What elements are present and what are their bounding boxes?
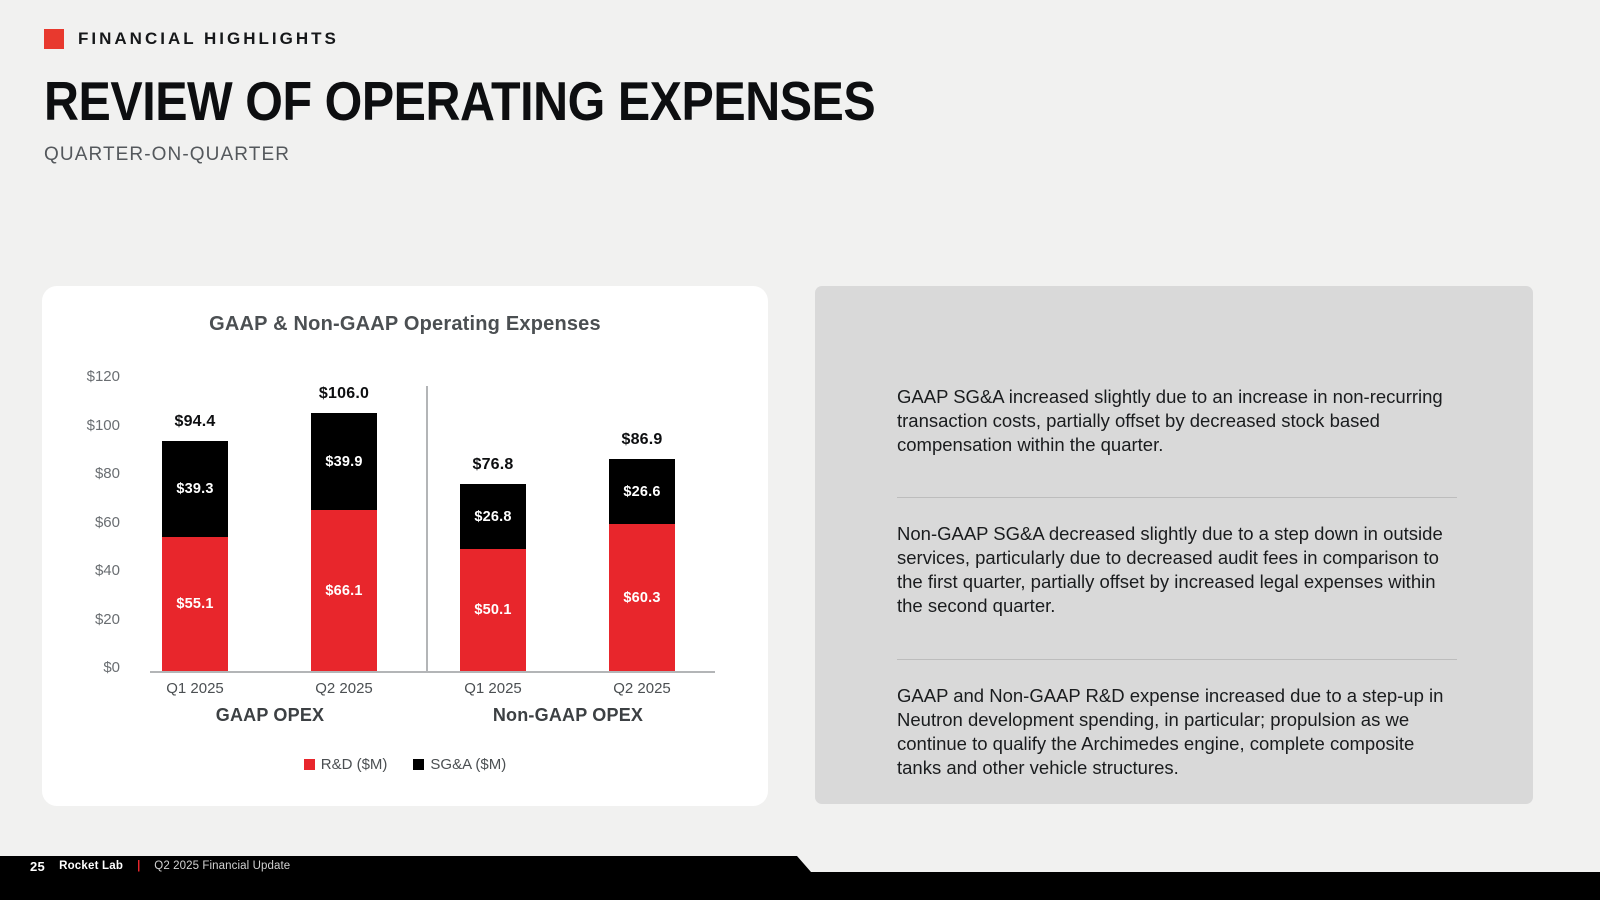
bar-segment-sga[interactable]: $39.3	[162, 441, 228, 537]
group-label-gaap-opex: GAAP OPEX	[120, 705, 420, 726]
legend-label-rd: R&D ($M)	[321, 756, 388, 773]
commentary-item: GAAP and Non-GAAP R&D expense increased …	[897, 659, 1457, 780]
x-axis-tick-gaap-q2: Q2 2025	[274, 680, 414, 697]
legend-swatch-sga-icon	[413, 759, 424, 770]
bar-segment-rd[interactable]: $55.1	[162, 537, 228, 671]
commentary-item: GAAP SG&A increased slightly due to an i…	[897, 385, 1457, 479]
chart-legend: R&D ($M) SG&A ($M)	[42, 756, 768, 773]
y-axis-tick: $0	[64, 659, 120, 676]
bar-segment-label: $39.9	[325, 454, 362, 470]
bar-gaap-q1-2025[interactable]: $39.3 $55.1	[162, 441, 228, 671]
legend-item-sga[interactable]: SG&A ($M)	[413, 756, 506, 773]
page-subtitle: QUARTER-ON-QUARTER	[44, 144, 944, 166]
eyebrow-label: FINANCIAL HIGHLIGHTS	[78, 29, 339, 49]
chart-plot-area: $0 $20 $40 $60 $80 $100 $120 $39.3 $55.1…	[42, 286, 768, 806]
commentary-panel: GAAP SG&A increased slightly due to an i…	[815, 286, 1533, 804]
legend-label-sga: SG&A ($M)	[430, 756, 506, 773]
bar-segment-label: $39.3	[176, 481, 213, 497]
y-axis-tick: $80	[64, 465, 120, 482]
bar-total-label: $86.9	[582, 431, 702, 449]
group-divider-line	[426, 386, 428, 671]
bar-segment-label: $50.1	[474, 602, 511, 618]
x-axis-line	[150, 671, 715, 673]
bar-segment-label: $66.1	[325, 583, 362, 599]
y-axis-tick: $120	[64, 368, 120, 385]
bar-segment-sga[interactable]: $26.8	[460, 484, 526, 549]
commentary-item: Non-GAAP SG&A decreased slightly due to …	[897, 497, 1457, 640]
footer-deck-name: Q2 2025 Financial Update	[154, 860, 290, 872]
footer-brand: Rocket Lab	[59, 860, 123, 872]
footer-content: 25 Rocket Lab | Q2 2025 Financial Update	[30, 855, 290, 877]
group-label-non-gaap-opex: Non-GAAP OPEX	[418, 705, 718, 726]
page-title: REVIEW OF OPERATING EXPENSES	[44, 72, 836, 130]
bar-non-gaap-q1-2025[interactable]: $26.8 $50.1	[460, 484, 526, 671]
footer-separator: |	[137, 860, 140, 872]
bar-segment-label: $55.1	[176, 596, 213, 612]
bar-segment-rd[interactable]: $66.1	[311, 510, 377, 671]
bar-segment-label: $60.3	[623, 590, 660, 606]
x-axis-tick-non-gaap-q1: Q1 2025	[423, 680, 563, 697]
bar-non-gaap-q2-2025[interactable]: $26.6 $60.3	[609, 459, 675, 671]
y-axis-tick: $20	[64, 611, 120, 628]
y-axis-tick: $100	[64, 417, 120, 434]
legend-swatch-rd-icon	[304, 759, 315, 770]
bar-segment-label: $26.8	[474, 509, 511, 525]
footer-page-number: 25	[30, 859, 45, 874]
bar-total-label: $76.8	[433, 456, 553, 474]
eyebrow-row: FINANCIAL HIGHLIGHTS	[44, 28, 944, 50]
commentary-list: GAAP SG&A increased slightly due to an i…	[897, 366, 1457, 798]
chart-card: GAAP & Non-GAAP Operating Expenses $0 $2…	[42, 286, 768, 806]
bar-total-label: $106.0	[284, 385, 404, 403]
bar-gaap-q2-2025[interactable]: $39.9 $66.1	[311, 413, 377, 671]
x-axis-tick-gaap-q1: Q1 2025	[125, 680, 265, 697]
x-axis-tick-non-gaap-q2: Q2 2025	[572, 680, 712, 697]
legend-item-rd[interactable]: R&D ($M)	[304, 756, 388, 773]
bar-total-label: $94.4	[135, 413, 255, 431]
bar-segment-label: $26.6	[623, 484, 660, 500]
slide-header: FINANCIAL HIGHLIGHTS REVIEW OF OPERATING…	[44, 28, 944, 166]
bar-segment-rd[interactable]: $50.1	[460, 549, 526, 671]
bar-segment-rd[interactable]: $60.3	[609, 524, 675, 671]
bar-segment-sga[interactable]: $26.6	[609, 459, 675, 524]
y-axis-tick: $40	[64, 562, 120, 579]
red-square-icon	[44, 29, 64, 49]
bar-segment-sga[interactable]: $39.9	[311, 413, 377, 510]
y-axis-tick: $60	[64, 514, 120, 531]
